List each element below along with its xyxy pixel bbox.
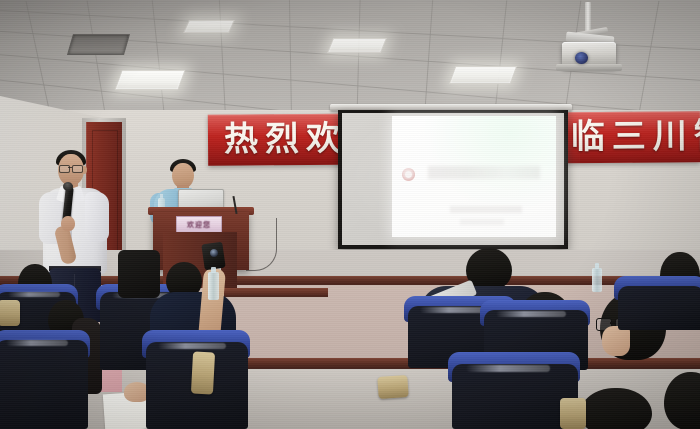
ceiling-light-2	[327, 38, 387, 53]
seat-armrest-left-edge	[0, 300, 20, 326]
water-bottle-3	[208, 272, 219, 300]
slide-footer-text	[460, 219, 504, 225]
podium-name-sign: 欢迎您	[176, 216, 222, 233]
projection-screen	[338, 110, 568, 249]
attendee-dark-figure	[118, 250, 160, 298]
water-bottle-2	[592, 268, 602, 292]
attendee-face-right	[602, 326, 630, 356]
speaker-hand	[61, 216, 75, 231]
seat-armrest-fg-center	[377, 375, 408, 399]
lecture-hall-photo: 热烈欢迎浙江省 莅临三川智慧授课	[0, 0, 700, 429]
ceiling-light-4	[183, 20, 235, 33]
attendee-head-foreground-right	[580, 388, 652, 429]
ceiling-light-3	[449, 66, 518, 84]
seat-highlight-c2	[158, 343, 226, 349]
seat-armrest-fg-right	[560, 398, 586, 429]
slide-logo-icon	[402, 168, 415, 181]
projected-slide	[392, 116, 556, 237]
phone-camera-lens-icon	[210, 249, 218, 257]
auditorium-seat-r4[interactable]	[618, 286, 700, 330]
seat-highlight-l2	[6, 340, 68, 346]
seat-armrest-c2	[191, 351, 215, 394]
seat-highlight-r2	[496, 311, 566, 317]
podium-sign-text: 欢迎您	[187, 220, 211, 230]
air-vent-icon	[67, 34, 130, 55]
seat-highlight-r3	[466, 365, 550, 372]
eyeglasses-icon	[59, 165, 83, 171]
slide-title-text	[428, 166, 540, 179]
ceiling-light-1	[114, 70, 185, 90]
slide-subtitle-text	[450, 206, 522, 213]
seat-highlight-l1	[8, 292, 60, 297]
projector-base-plate	[556, 64, 622, 71]
projector-lens-icon	[575, 52, 588, 64]
desk-ledge-center	[210, 288, 328, 297]
auditorium-seat-l2[interactable]	[0, 340, 88, 429]
speaker-sleeve-right	[85, 192, 109, 242]
